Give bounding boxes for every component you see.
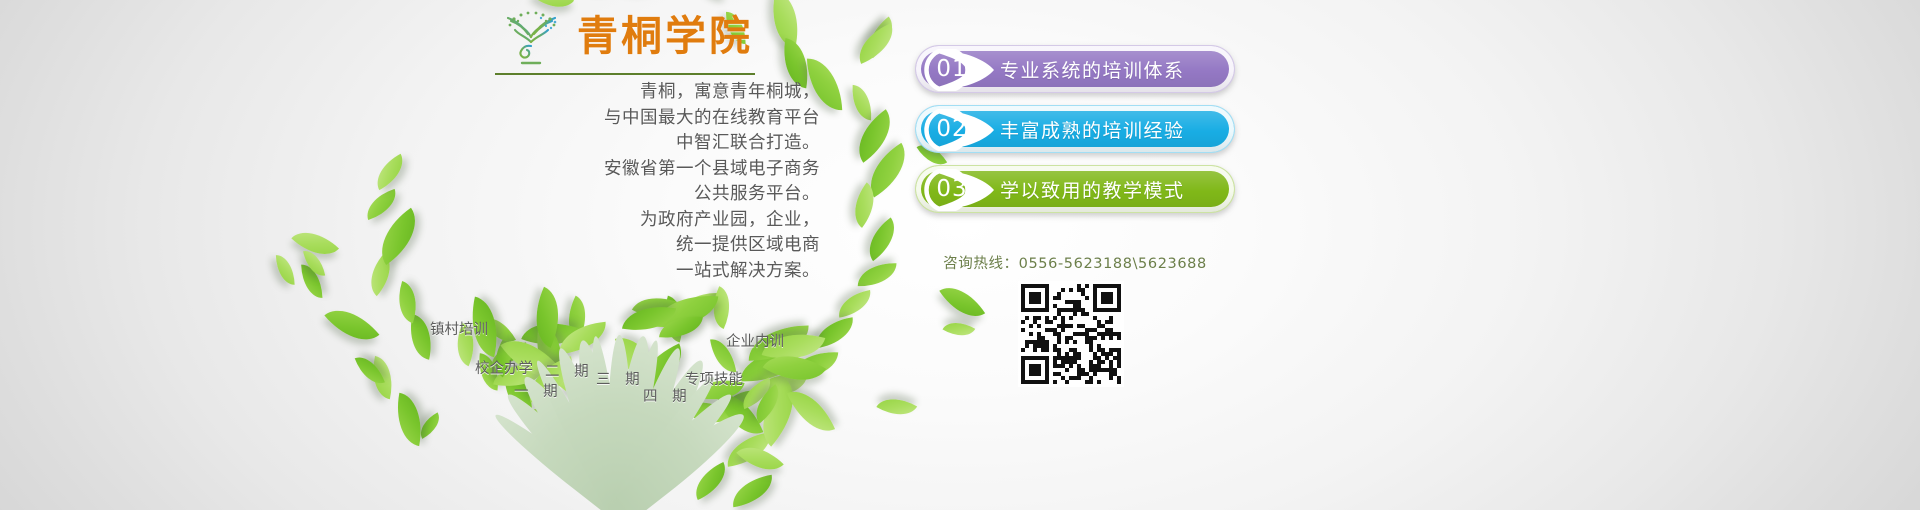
leaf-icon — [360, 253, 402, 296]
description-line: 为政府产业园，企业， — [420, 208, 820, 234]
description-line: 与中国最大的在线教育平台 — [420, 106, 820, 132]
leaf-icon — [939, 276, 985, 327]
leaf-icon — [858, 262, 897, 287]
tree-logo-icon — [495, 6, 567, 66]
program-label: 专项技能 — [685, 368, 743, 389]
description-line: 公共服务平台。 — [420, 182, 820, 208]
qr-code-icon[interactable] — [1018, 281, 1124, 387]
program-label: 校企办学 — [475, 357, 533, 378]
leaf-icon — [325, 296, 380, 353]
feature-label: 丰富成熟的培训经验 — [1000, 116, 1185, 143]
brand-logo-block: 青桐学院 — [495, 6, 755, 75]
banner-canvas: 青桐学院 青桐，寓意青年桐城，与中国最大的在线教育平台中智汇联合打造。安徽省第一… — [0, 0, 1920, 510]
feature-list: 01专业系统的培训体系02丰富成熟的培训经验03学以致用的教学模式 — [915, 45, 1235, 225]
leaf-icon — [362, 189, 402, 220]
leaf-icon — [859, 218, 906, 262]
feature-label: 学以致用的教学模式 — [1000, 176, 1185, 203]
description-line: 中智汇联合打造。 — [420, 131, 820, 157]
description-line: 安徽省第一个县域电子商务 — [420, 157, 820, 183]
feature-item-02[interactable]: 02丰富成熟的培训经验 — [915, 105, 1235, 153]
brand-description: 青桐，寓意青年桐城，与中国最大的在线教育平台中智汇联合打造。安徽省第一个县域电子… — [420, 80, 820, 284]
leaf-icon — [835, 290, 873, 318]
feature-item-03[interactable]: 03学以致用的教学模式 — [915, 165, 1235, 213]
page-title: 青桐学院 — [577, 16, 753, 57]
feature-number: 03 — [920, 176, 984, 202]
program-phase-label: 二 期 — [545, 360, 594, 381]
description-line: 青桐，寓意青年桐城， — [420, 80, 820, 106]
hotline-text: 咨询热线：0556-5623188\5623688 — [915, 252, 1235, 273]
leaf-icon — [697, 0, 727, 3]
feature-item-01[interactable]: 01专业系统的培训体系 — [915, 45, 1235, 93]
description-line: 统一提供区域电商 — [420, 233, 820, 259]
feature-number: 02 — [920, 116, 984, 142]
leaf-icon — [369, 154, 411, 190]
program-phase-label: 一 期 — [514, 380, 563, 401]
leaf-icon — [876, 389, 917, 425]
leaf-icon — [942, 316, 974, 344]
leaf-icon — [276, 255, 295, 286]
description-line: 一站式解决方案。 — [420, 259, 820, 285]
program-phase-label: 三 期 — [596, 368, 645, 389]
program-label: 镇村培训 — [430, 318, 488, 339]
leaf-icon — [850, 85, 873, 120]
program-label: 企业内训 — [726, 330, 784, 351]
program-phase-label: 四 期 — [643, 385, 692, 406]
feature-label: 专业系统的培训体系 — [1000, 56, 1185, 83]
feature-number: 01 — [920, 56, 984, 82]
logo-divider — [495, 73, 755, 75]
